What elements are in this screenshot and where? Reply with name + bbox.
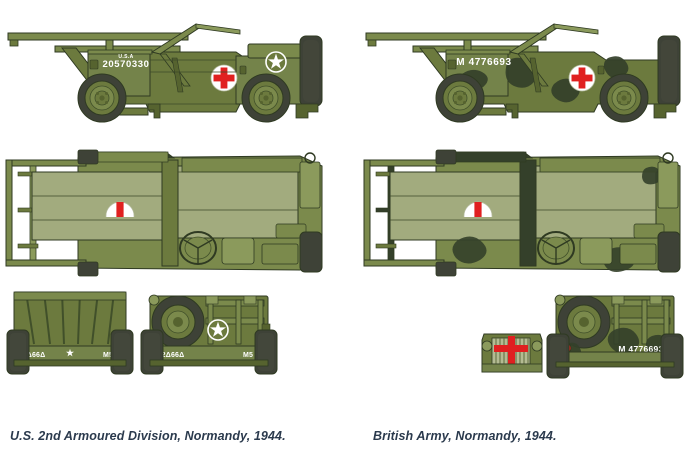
white-star-marking-us (266, 52, 286, 72)
rear-view-uk: M 4776693 (547, 295, 683, 378)
headlight-right (532, 341, 542, 351)
caption-us-variant: U.S. 2nd Armoured Division, Normandy, 19… (10, 429, 286, 443)
top-view-uk (364, 150, 680, 276)
front-wheel-uk (436, 74, 484, 122)
red-cross-marking-uk (569, 65, 595, 91)
front-wheel-us (78, 74, 126, 122)
marking-guide-sheet: U.S.A 20570330 (0, 0, 700, 466)
rear-code-left-us: 2Δ66Δ (162, 352, 185, 359)
front-view-us: 2Δ66Δ M5 (7, 292, 133, 374)
rear-view-us: 2Δ66Δ M5 (141, 295, 277, 374)
rear-wheel-us (242, 74, 290, 122)
headlight-left (482, 341, 492, 351)
side-view-uk: M 4776693 (366, 24, 680, 122)
side-view-us: U.S.A 20570330 (8, 24, 322, 122)
seat (222, 238, 254, 264)
rear-wheel-uk (600, 74, 648, 122)
top-view-us (6, 150, 322, 276)
front-tire-left-us (7, 330, 29, 374)
vehicle-illustrations: U.S.A 20570330 (0, 0, 700, 466)
hood-serial-uk: M 4776693 (456, 57, 511, 68)
front-view-uk (482, 334, 542, 372)
hood-serial-us: 20570330 (102, 59, 149, 70)
steering-wheel-uk (538, 232, 574, 264)
stretcher-platform-left (32, 172, 162, 240)
steering-wheel-us (180, 232, 216, 264)
caption-uk-variant: British Army, Normandy, 1944. (373, 429, 557, 443)
front-tire-right-us (111, 330, 133, 374)
rear-star-us (208, 320, 228, 340)
rear-code-right-us: M5 (243, 352, 253, 359)
red-cross-marking-us (211, 65, 237, 91)
